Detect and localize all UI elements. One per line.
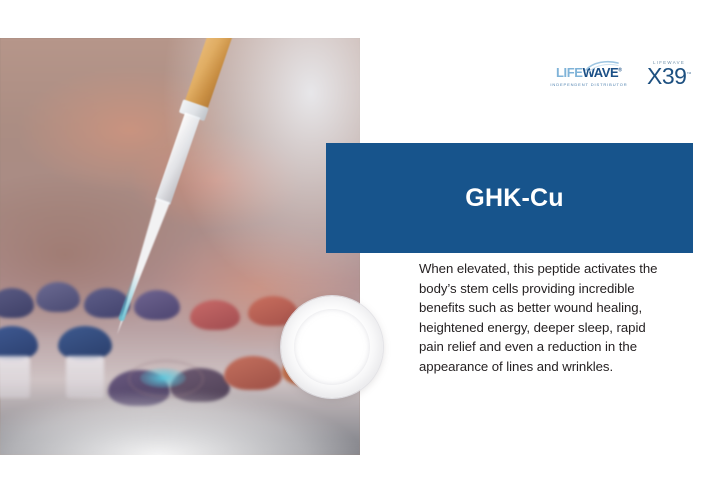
x39-word-text: X39 [647,63,686,89]
body-paragraph: When elevated, this peptide activates th… [419,259,669,377]
page-title: GHK-Cu [465,184,563,213]
x39-trademark: ™ [686,71,691,77]
x39-patch-disc [281,296,383,398]
x39-wordmark: X39™ [640,66,698,87]
lifewave-word-life: LIFE [556,65,583,80]
liquid-droplet [140,368,186,388]
x39-patch-inner-ring [294,309,370,385]
lifewave-logo: LIFEWAVE® INDEPENDENT DISTRIBUTOR [556,60,618,87]
vial-cap [36,282,80,312]
title-banner: GHK-Cu [326,143,693,253]
logo-row: LIFEWAVE® INDEPENDENT DISTRIBUTOR LIFEWA… [556,60,698,87]
x39-logo: LIFEWAVE X39™ [640,60,698,87]
lifewave-swoosh-icon [585,60,619,72]
lab-photo [0,38,360,455]
lifewave-tagline: INDEPENDENT DISTRIBUTOR [550,83,623,88]
